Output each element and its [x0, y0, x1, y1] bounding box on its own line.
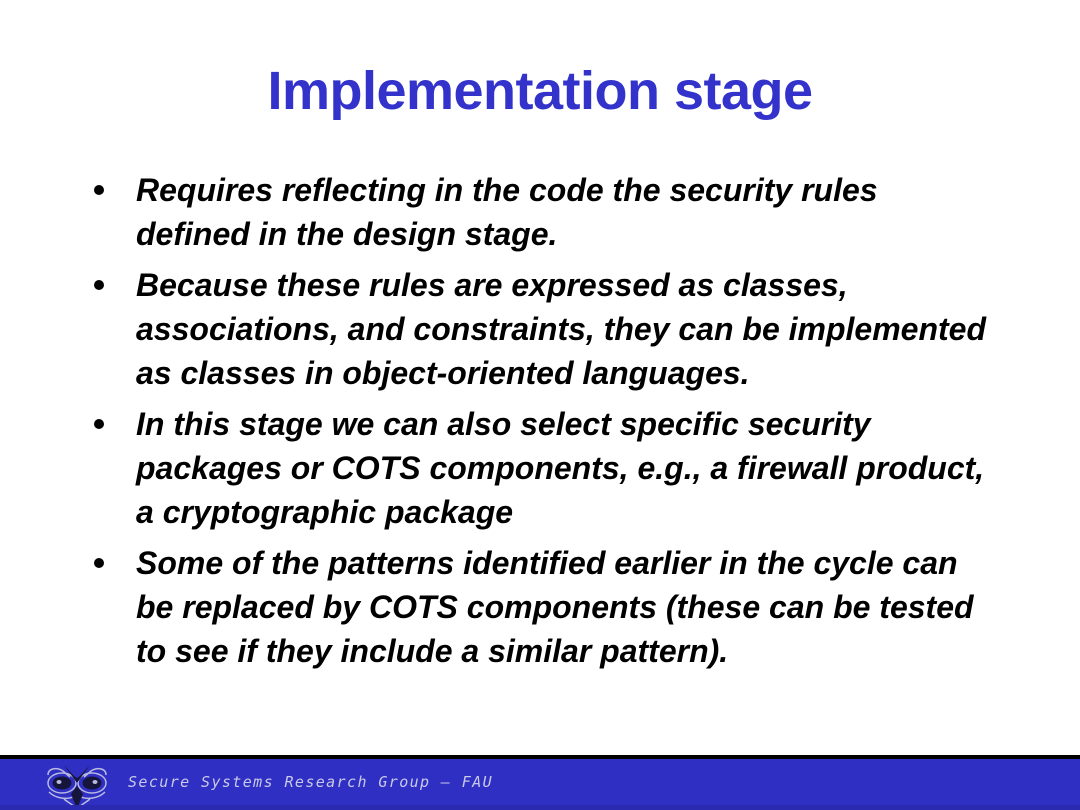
bullet-dot-icon	[94, 558, 104, 568]
list-item-text: Some of the patterns identified earlier …	[136, 541, 1000, 673]
list-item: Some of the patterns identified earlier …	[88, 541, 1000, 673]
footer-label: Secure Systems Research Group – FAU	[128, 773, 493, 791]
bullet-dot-icon	[94, 185, 104, 195]
bullet-dot-icon	[94, 280, 104, 290]
list-item: Because these rules are expressed as cla…	[88, 263, 1000, 395]
list-item-text: Because these rules are expressed as cla…	[136, 263, 1000, 395]
owl-logo-icon	[44, 763, 110, 810]
bullet-list: Requires reflecting in the code the secu…	[88, 168, 1000, 673]
list-item: Requires reflecting in the code the secu…	[88, 168, 1000, 256]
list-item: In this stage we can also select specifi…	[88, 402, 1000, 534]
bullet-dot-icon	[94, 419, 104, 429]
page-title: Implementation stage	[0, 62, 1080, 120]
list-item-text: Requires reflecting in the code the secu…	[136, 168, 1000, 256]
slide-canvas: Implementation stage Requires reflecting…	[0, 0, 1080, 810]
footer-bar: Secure Systems Research Group – FAU	[0, 755, 1080, 810]
list-item-text: In this stage we can also select specifi…	[136, 402, 1000, 534]
